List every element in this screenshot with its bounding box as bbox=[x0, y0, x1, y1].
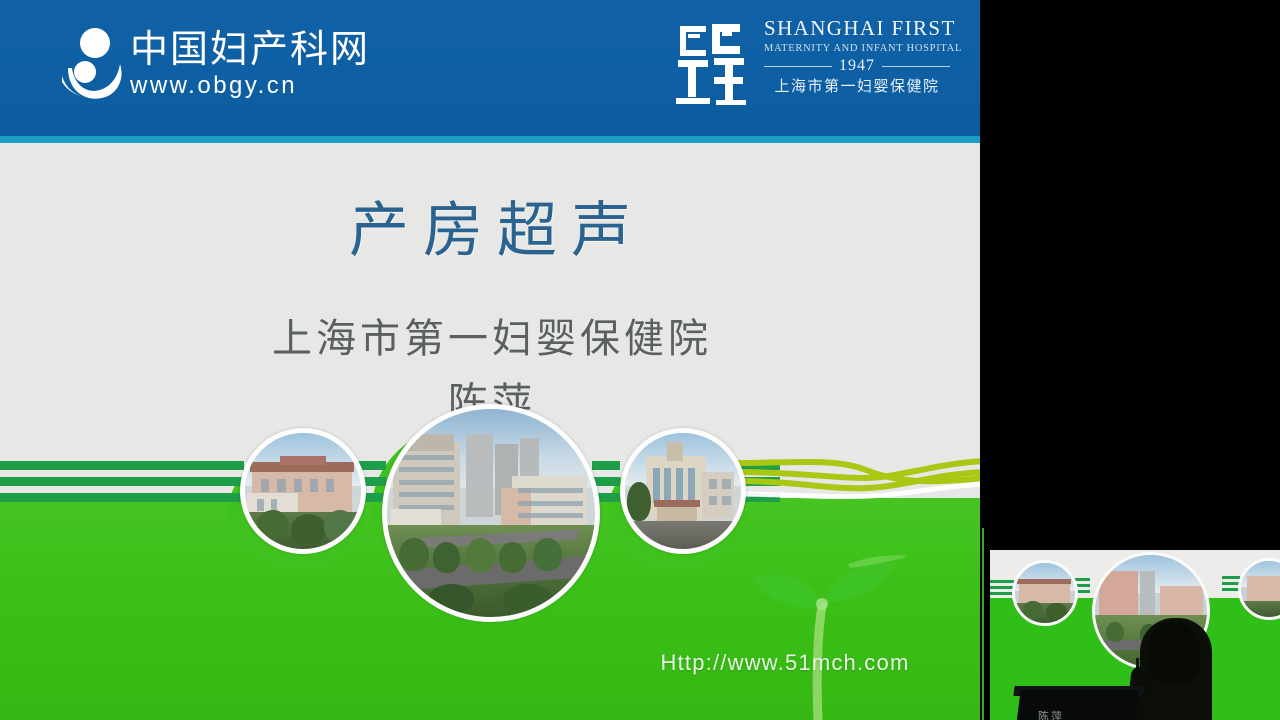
site-logo: 中国妇产科网 www.obgy.cn bbox=[58, 22, 318, 110]
screen: 中国妇产科网 www.obgy.cn bbox=[0, 0, 1280, 720]
hospital-founded-year: 1947 bbox=[839, 57, 875, 75]
site-url: www.obgy.cn bbox=[130, 72, 320, 100]
mother-and-child-icon bbox=[58, 26, 126, 106]
site-name-cn: 中国妇产科网 bbox=[130, 28, 320, 70]
speaker-head bbox=[1148, 622, 1200, 684]
site-logo-text: 中国妇产科网 www.obgy.cn bbox=[130, 28, 320, 100]
stripe-group-left bbox=[0, 461, 244, 508]
podium-nameplate: 陈萍 bbox=[1038, 708, 1064, 720]
presentation-slide[interactable]: 中国妇产科网 www.obgy.cn bbox=[0, 0, 980, 720]
video-photo-right bbox=[1238, 558, 1280, 620]
video-photo-left bbox=[1012, 560, 1078, 626]
hospital-name-en-line2: MATERNITY AND INFANT HOSPITAL bbox=[764, 41, 950, 56]
slide-title: 产房超声 bbox=[0, 182, 980, 269]
photo-old-campus bbox=[245, 433, 361, 549]
speaker-video-panel[interactable]: 陈萍 bbox=[982, 528, 1280, 720]
photo-main-campus bbox=[387, 409, 595, 617]
hospital-name-cn: 上海市第一妇婴保健院 bbox=[764, 76, 950, 96]
hospital-seal-icon bbox=[672, 20, 752, 108]
hospital-logo-text: SHANGHAI FIRST MATERNITY AND INFANT HOSP… bbox=[764, 16, 950, 96]
sprout-graphic bbox=[700, 520, 930, 720]
slide-header-bar: 中国妇产科网 www.obgy.cn bbox=[0, 0, 980, 136]
video-frame: 陈萍 bbox=[990, 550, 1280, 720]
slide-footer-url: Http://www.51mch.com bbox=[620, 650, 950, 676]
hospital-year-row: 1947 bbox=[764, 57, 950, 75]
hospital-photo-center bbox=[382, 404, 600, 622]
header-accent-strip bbox=[0, 136, 980, 143]
podium bbox=[1015, 690, 1138, 720]
hospital-photo-left bbox=[240, 428, 366, 554]
wave-lines-decoration bbox=[736, 448, 980, 508]
rule-left bbox=[764, 66, 832, 67]
hospital-logo: SHANGHAI FIRST MATERNITY AND INFANT HOSP… bbox=[672, 16, 948, 118]
rule-right bbox=[882, 66, 950, 67]
hospital-name-en-line1: SHANGHAI FIRST bbox=[764, 16, 950, 41]
slide-organization: 上海市第一妇婴保健院 bbox=[0, 306, 980, 364]
